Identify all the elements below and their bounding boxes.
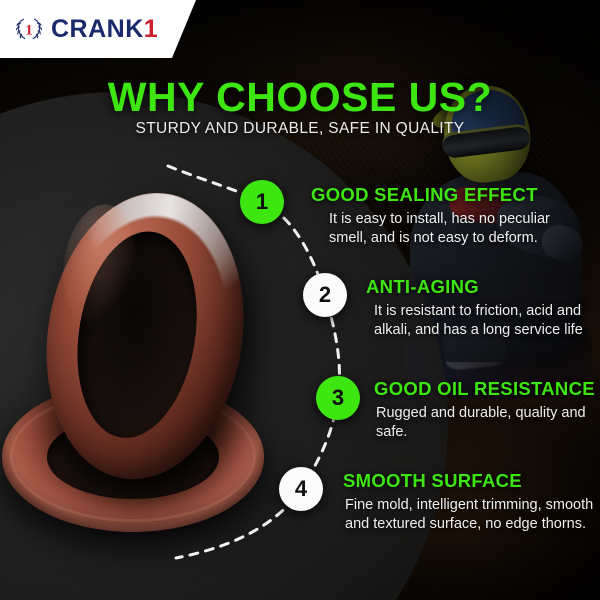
laurel-wreath-icon: 1 — [14, 15, 44, 43]
feature-badge-4: 4 — [279, 467, 323, 511]
feature-item-3: GOOD OIL RESISTANCE Rugged and durable, … — [374, 378, 600, 442]
feature-title-2: ANTI-AGING — [366, 276, 600, 298]
brand-wordmark-prefix: CRANK — [51, 15, 144, 43]
feature-title-3: GOOD OIL RESISTANCE — [374, 378, 600, 400]
feature-title-1: GOOD SEALING EFFECT — [311, 184, 579, 206]
feature-badge-3: 3 — [316, 376, 360, 420]
feature-item-1: GOOD SEALING EFFECT It is easy to instal… — [311, 184, 579, 248]
svg-text:1: 1 — [25, 23, 33, 39]
feature-title-4: SMOOTH SURFACE — [343, 470, 599, 492]
why-choose-us-poster: 1 CRANK1 WHY CHOOSE US? STURDY AND DURAB… — [0, 0, 600, 600]
brand-wordmark-suffix: 1 — [144, 15, 158, 43]
brand-wordmark: CRANK1 — [51, 17, 158, 42]
feature-badge-1: 1 — [240, 180, 284, 224]
feature-badge-2: 2 — [303, 273, 347, 317]
page-subtitle: STURDY AND DURABLE, SAFE IN QUALITY — [0, 120, 600, 138]
feature-item-2: ANTI-AGING It is resistant to friction, … — [366, 276, 600, 340]
feature-desc-1: It is easy to install, has no peculiar s… — [311, 210, 579, 248]
feature-desc-2: It is resistant to friction, acid and al… — [366, 302, 600, 340]
feature-item-4: SMOOTH SURFACE Fine mold, intelligent tr… — [343, 470, 599, 534]
feature-desc-4: Fine mold, intelligent trimming, smooth … — [343, 496, 599, 534]
product-image-oil-seals — [2, 186, 270, 548]
feature-desc-3: Rugged and durable, quality and safe. — [374, 404, 600, 442]
brand-logo-banner[interactable]: 1 CRANK1 — [0, 0, 196, 58]
page-title: WHY CHOOSE US? — [0, 74, 600, 121]
